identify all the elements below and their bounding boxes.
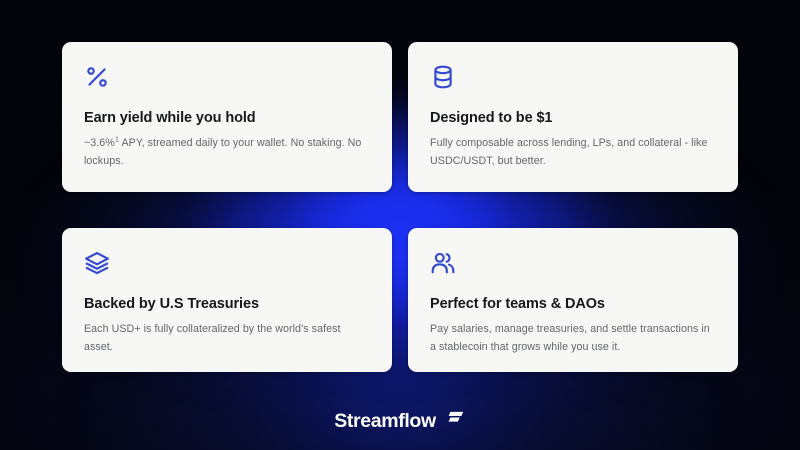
percent-icon [84, 64, 370, 90]
card-body: Each USD+ is fully collateralized by the… [84, 321, 369, 356]
database-icon [430, 64, 716, 90]
card-title: Backed by U.S Treasuries [84, 296, 370, 313]
brand-lockup: Streamflow [0, 408, 800, 434]
card-body: Pay salaries, manage treasuries, and set… [430, 321, 716, 356]
streamflow-f-logo-icon [445, 408, 466, 434]
feature-card-backed-by-treasuries[interactable]: Backed by U.S Treasuries Each USD+ is fu… [62, 228, 392, 372]
users-icon [430, 250, 716, 276]
card-body: ~3.6%1 APY, streamed daily to your walle… [84, 135, 369, 170]
feature-card-earn-yield[interactable]: Earn yield while you hold ~3.6%1 APY, st… [62, 42, 392, 192]
card-title: Designed to be $1 [430, 110, 716, 127]
card-title: Perfect for teams & DAOs [430, 296, 716, 313]
brand-wordmark: Streamflow [334, 410, 436, 433]
card-body: Fully composable across lending, LPs, an… [430, 135, 716, 170]
card-body-rest: APY, streamed daily to your wallet. No s… [84, 137, 361, 166]
slide-canvas: Earn yield while you hold ~3.6%1 APY, st… [0, 0, 800, 450]
card-title: Earn yield while you hold [84, 110, 370, 127]
feature-card-teams-and-daos[interactable]: Perfect for teams & DAOs Pay salaries, m… [408, 228, 738, 372]
feature-card-grid: Earn yield while you hold ~3.6%1 APY, st… [62, 42, 738, 372]
layers-icon [84, 250, 370, 276]
feature-card-designed-to-be-1[interactable]: Designed to be $1 Fully composable acros… [408, 42, 738, 192]
card-body-lead: ~3.6% [84, 137, 115, 149]
